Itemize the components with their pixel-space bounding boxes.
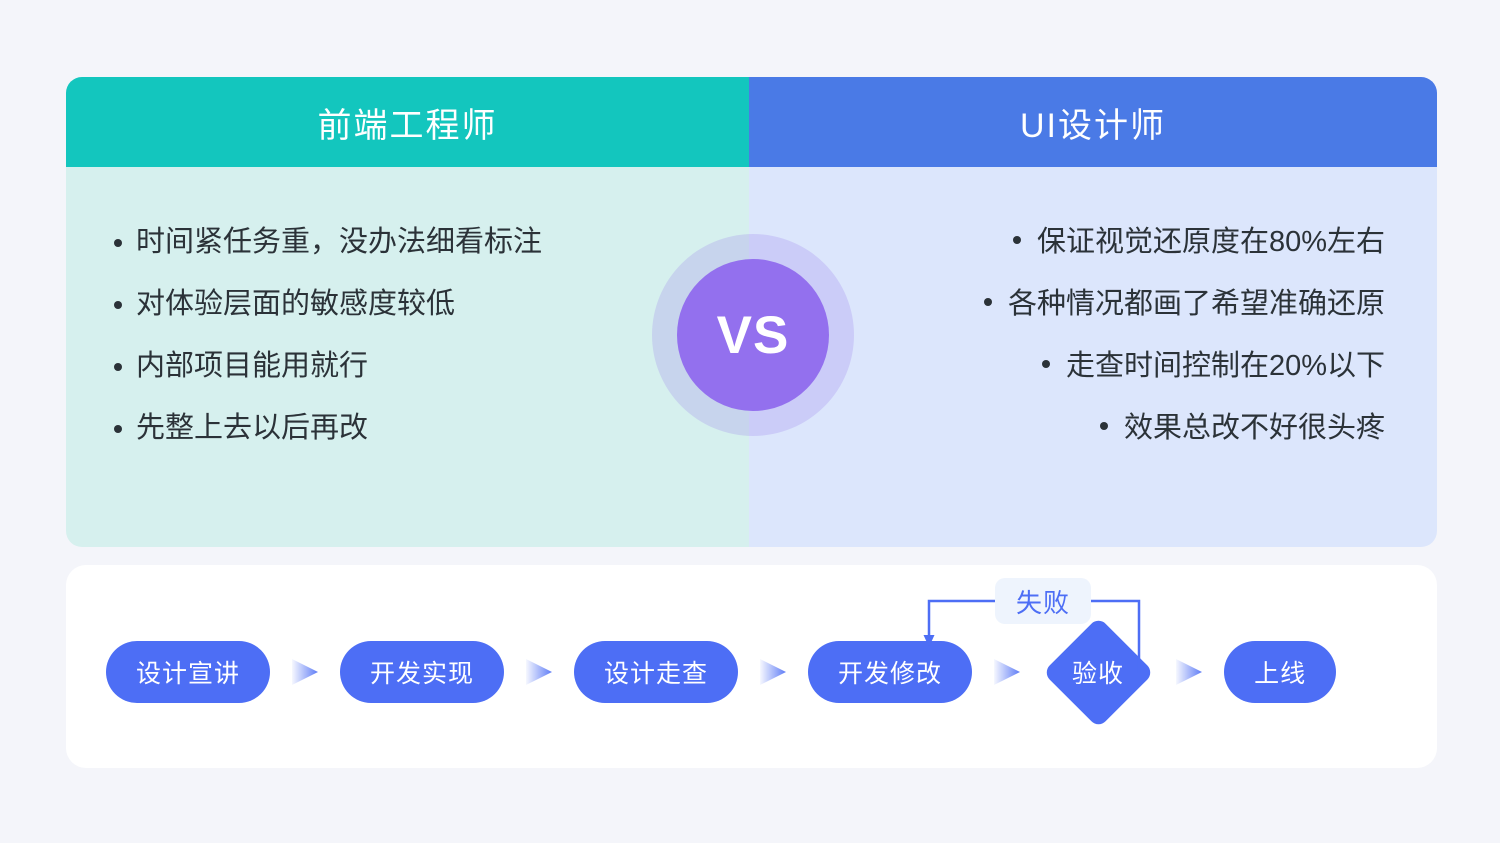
arrow-right-icon [990,655,1024,689]
list-item-label: 保证视觉还原度在80%左右 [1037,226,1385,258]
process-flow-row: 设计宣讲 开发实现 设计走查 [66,638,1437,706]
arrow-right-icon [1172,655,1206,689]
frontend-engineer-bullet-list: 时间紧任务重，没办法细看标注 对体验层面的敏感度较低 内部项目能用就行 先整上去… [66,211,749,459]
flow-node-acceptance[interactable]: 验收 [1042,616,1154,728]
flow-node-acceptance-label: 验收 [1072,654,1124,690]
vs-badge: VS [652,234,854,436]
arrow-right-icon [522,655,556,689]
flow-node-launch[interactable]: 上线 [1224,641,1336,703]
process-flow-card: 设计宣讲 开发实现 设计走查 [66,565,1437,768]
list-item: 时间紧任务重，没办法细看标注 [66,211,749,273]
arrow-right-icon [288,655,322,689]
list-item: 先整上去以后再改 [66,397,749,459]
pane-frontend-engineer: 前端工程师 时间紧任务重，没办法细看标注 对体验层面的敏感度较低 内部项目能用就… [66,77,749,547]
flow-node-development[interactable]: 开发实现 [340,641,504,703]
flow-node-design-kickoff[interactable]: 设计宣讲 [106,641,270,703]
list-item: 内部项目能用就行 [66,335,749,397]
list-item-label: 走查时间控制在20%以下 [1066,350,1385,382]
failure-label: 失败 [995,578,1091,624]
pane-right-title: UI设计师 [749,77,1437,167]
list-item: 对体验层面的敏感度较低 [66,273,749,335]
poster-canvas: 前端工程师 时间紧任务重，没办法细看标注 对体验层面的敏感度较低 内部项目能用就… [0,0,1500,843]
flow-node-design-review[interactable]: 设计走查 [574,641,738,703]
list-item-label: 各种情况都画了希望准确还原 [1008,288,1385,320]
list-item-label: 效果总改不好很头疼 [1124,412,1385,444]
pane-left-title: 前端工程师 [66,77,749,167]
flow-node-development-fix[interactable]: 开发修改 [808,641,972,703]
pane-left-body: 时间紧任务重，没办法细看标注 对体验层面的敏感度较低 内部项目能用就行 先整上去… [66,167,749,547]
vs-label: VS [677,259,829,411]
arrow-right-icon [756,655,790,689]
